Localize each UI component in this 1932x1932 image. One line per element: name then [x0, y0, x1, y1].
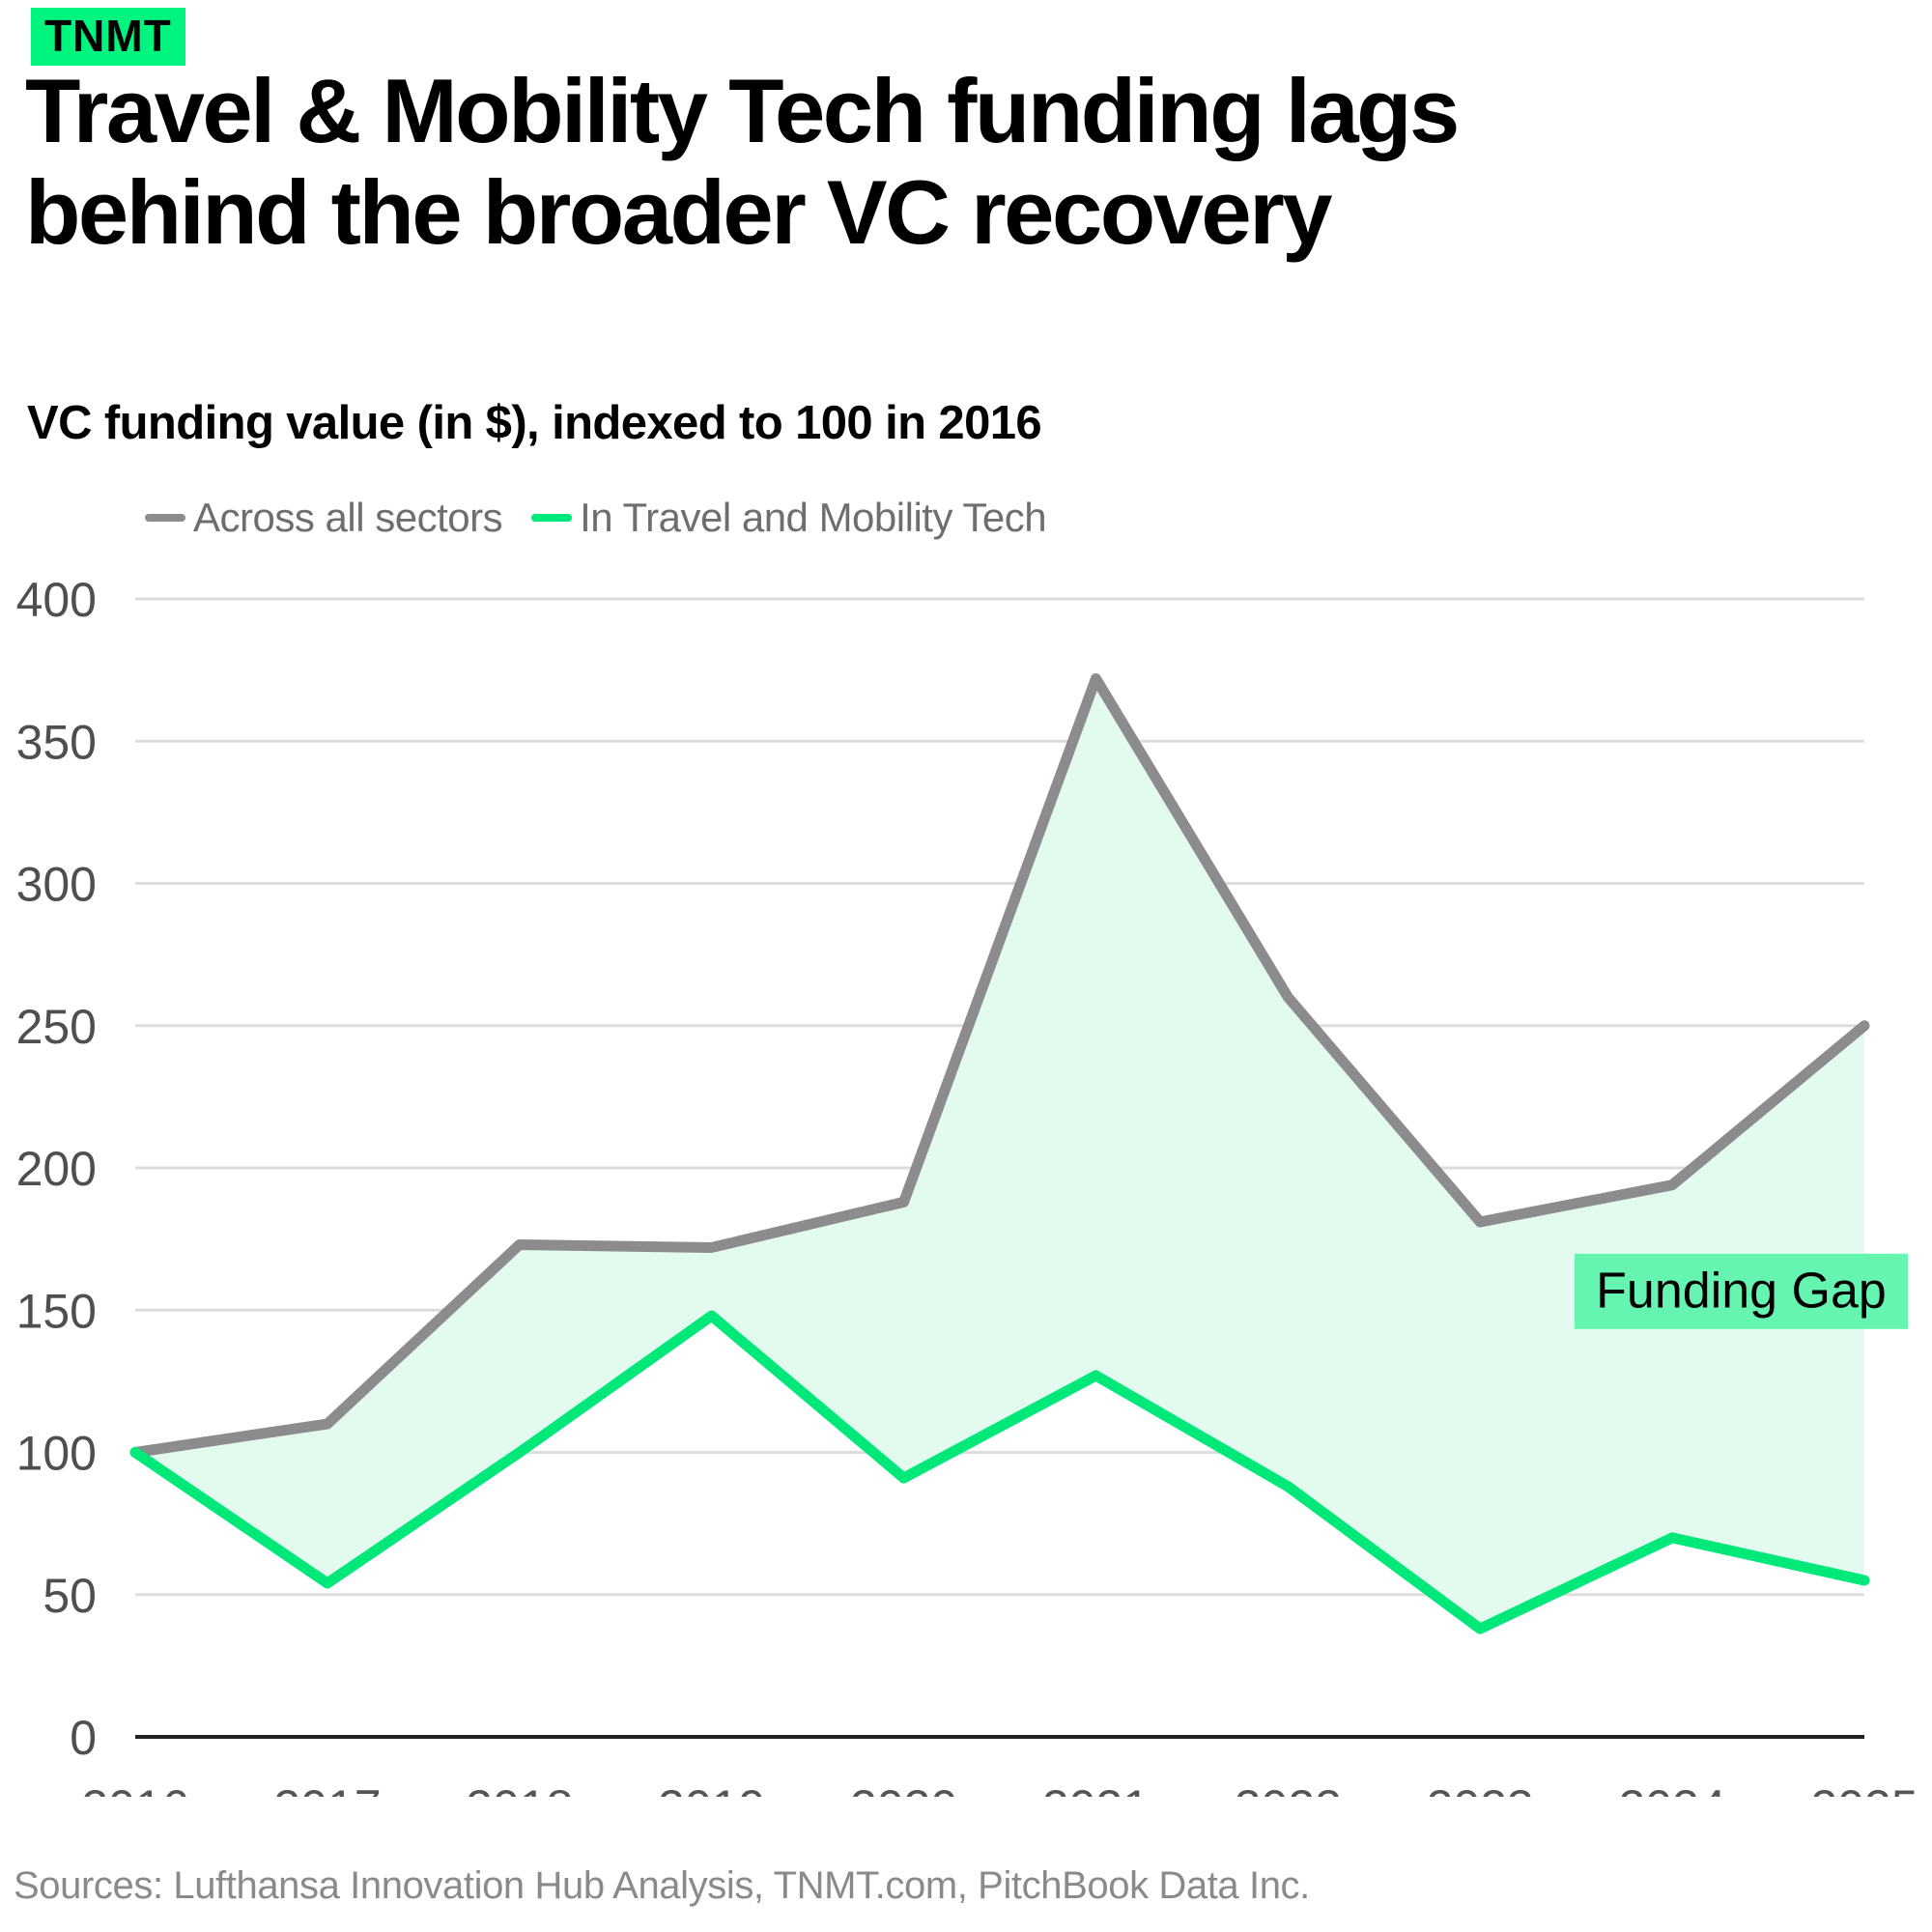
x-tick-label-2020: 2020	[850, 1780, 957, 1797]
x-axis-labels: 2016201720182019202020212022202320242025	[81, 1780, 1918, 1797]
y-axis-labels: 050100150200250300350400	[16, 573, 97, 1765]
x-tick-label-2023: 2023	[1427, 1780, 1534, 1797]
sources-note: Sources: Lufthansa Innovation Hub Analys…	[14, 1864, 1310, 1908]
y-tick-label-400: 400	[16, 573, 97, 627]
legend-item-all-sectors[interactable]: Across all sectors	[145, 495, 502, 541]
y-tick-label-250: 250	[16, 1000, 97, 1054]
x-tick-label-2018: 2018	[466, 1780, 573, 1797]
legend-swatch-travel-mobility	[531, 514, 572, 522]
headline-line-2: behind the broader VC recovery	[25, 161, 1841, 263]
x-tick-label-2022: 2022	[1235, 1780, 1342, 1797]
legend-label-travel-mobility: In Travel and Mobility Tech	[580, 495, 1046, 541]
y-tick-label-200: 200	[16, 1142, 97, 1196]
logo-text: TNMT	[44, 14, 172, 58]
funding-gap-area	[135, 678, 1864, 1629]
y-tick-label-150: 150	[16, 1284, 97, 1338]
chart-subtitle: VC funding value (in $), indexed to 100 …	[27, 396, 1041, 450]
x-tick-label-2017: 2017	[273, 1780, 381, 1797]
funding-gap-fill	[135, 678, 1864, 1629]
line-chart-svg: 050100150200250300350400 201620172018201…	[0, 541, 1932, 1797]
x-tick-label-2016: 2016	[81, 1780, 188, 1797]
y-tick-label-50: 50	[43, 1569, 97, 1623]
legend-label-all-sectors: Across all sectors	[193, 495, 502, 541]
y-tick-label-100: 100	[16, 1427, 97, 1481]
chart-plot-area: 050100150200250300350400 201620172018201…	[0, 541, 1932, 1797]
page-title: Travel & Mobility Tech funding lags behi…	[25, 60, 1841, 264]
funding-gap-annotation: Funding Gap	[1575, 1254, 1908, 1329]
legend-swatch-all-sectors	[145, 514, 185, 522]
headline-line-1: Travel & Mobility Tech funding lags	[25, 60, 1841, 161]
legend-item-travel-mobility[interactable]: In Travel and Mobility Tech	[531, 495, 1046, 541]
x-tick-label-2024: 2024	[1618, 1780, 1725, 1797]
y-tick-label-300: 300	[16, 858, 97, 912]
tnmt-logo: TNMT	[31, 8, 185, 66]
y-tick-label-0: 0	[70, 1711, 97, 1765]
x-tick-label-2019: 2019	[658, 1780, 765, 1797]
x-tick-label-2025: 2025	[1810, 1780, 1918, 1797]
funding-gap-label-text: Funding Gap	[1596, 1264, 1887, 1320]
logo-badge: TNMT	[31, 8, 185, 66]
x-tick-label-2021: 2021	[1042, 1780, 1150, 1797]
y-tick-label-350: 350	[16, 715, 97, 769]
chart-legend: Across all sectors In Travel and Mobilit…	[145, 495, 1046, 541]
chart-page: TNMT Travel & Mobility Tech funding lags…	[0, 0, 1932, 1932]
